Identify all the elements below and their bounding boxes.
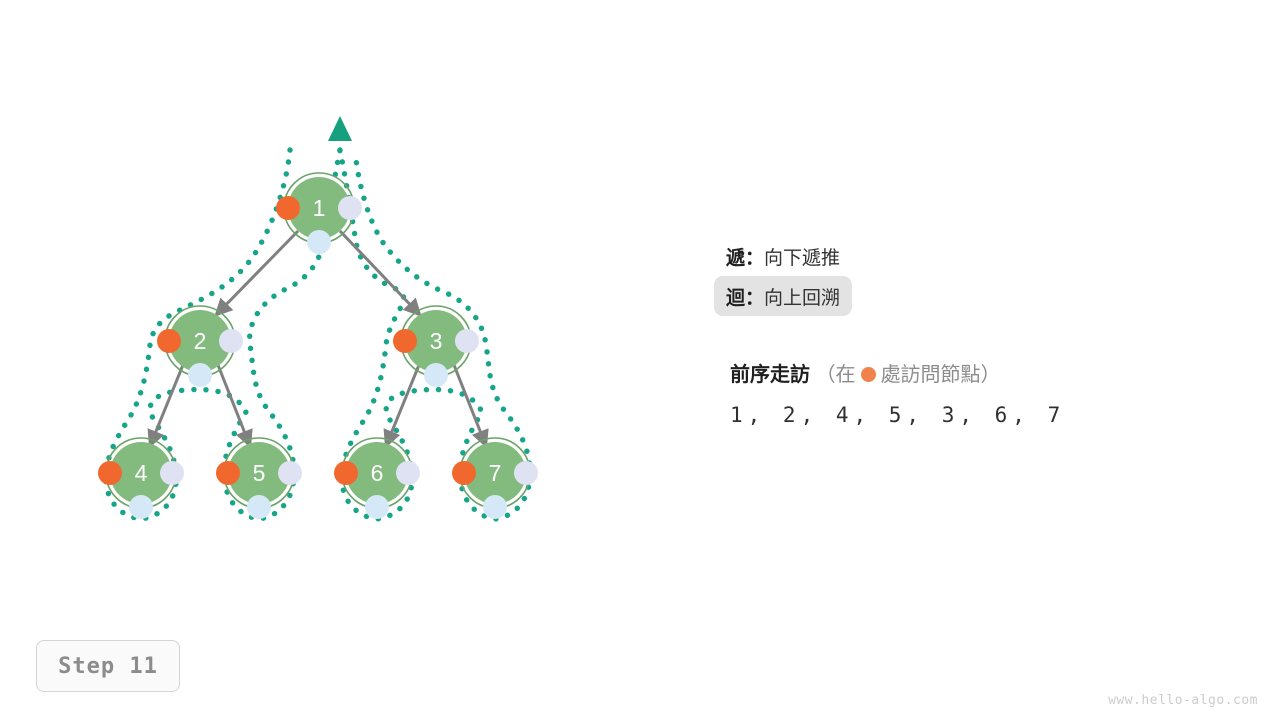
- node-label: 7: [489, 460, 502, 486]
- bottom-slot-dot: [424, 363, 448, 387]
- bottom-slot-dot: [188, 363, 212, 387]
- right-slot-dot: [338, 196, 362, 220]
- legend-row-recurse: 遞： 向下遞推: [726, 236, 1246, 276]
- visit-dot-icon: [861, 367, 876, 382]
- right-slot-dot: [514, 461, 538, 485]
- bottom-slot-dot: [247, 495, 271, 519]
- backtrack-marker-icon: [328, 116, 352, 141]
- visit-dot: [452, 461, 476, 485]
- edge-1-3: [340, 231, 420, 315]
- edge-2-4: [150, 365, 183, 446]
- node-label: 3: [430, 328, 443, 354]
- visit-dot: [216, 461, 240, 485]
- watermark: www.hello-algo.com: [1108, 693, 1258, 708]
- node-label: 4: [135, 460, 148, 486]
- tree-nodes: 1 2 3 4: [98, 173, 538, 519]
- visit-dot: [393, 329, 417, 353]
- tree-node-3[interactable]: 3: [393, 306, 479, 387]
- visit-dot: [157, 329, 181, 353]
- bottom-slot-dot: [129, 495, 153, 519]
- bottom-slot-dot: [483, 495, 507, 519]
- node-label: 5: [253, 460, 266, 486]
- edge-3-7: [454, 365, 486, 446]
- legend-lead-backtrack: 迴：: [726, 283, 764, 310]
- right-slot-dot: [219, 329, 243, 353]
- legend: 遞： 向下遞推 迴： 向上回溯: [726, 236, 1246, 316]
- node-label: 2: [194, 328, 207, 354]
- visit-dot: [276, 196, 300, 220]
- traversal-order-note-post: 處訪問節點）: [881, 364, 1001, 386]
- traversal-order-note-pre: （在: [816, 364, 856, 386]
- step-badge: Step 11: [36, 640, 180, 692]
- node-label: 1: [313, 195, 326, 221]
- right-slot-dot: [396, 461, 420, 485]
- right-slot-dot: [160, 461, 184, 485]
- bottom-slot-dot: [307, 230, 331, 254]
- traversal-order-title: 前序走訪 （在處訪問節點）: [730, 360, 1250, 390]
- visit-dot: [98, 461, 122, 485]
- legend-body-recurse: 向下遞推: [764, 243, 840, 270]
- edge-3-6: [386, 365, 419, 446]
- visit-dot: [334, 461, 358, 485]
- traversal-order: 前序走訪 （在處訪問節點） 1, 2, 4, 5, 3, 6, 7: [730, 360, 1250, 427]
- right-slot-dot: [455, 329, 479, 353]
- node-label: 6: [371, 460, 384, 486]
- edge-1-2: [216, 231, 298, 315]
- traversal-order-name: 前序走訪: [730, 364, 810, 386]
- legend-body-backtrack: 向上回溯: [764, 283, 840, 310]
- bottom-slot-dot: [365, 495, 389, 519]
- legend-row-backtrack: 迴： 向上回溯: [714, 276, 852, 316]
- right-slot-dot: [278, 461, 302, 485]
- traversal-order-sequence: 1, 2, 4, 5, 3, 6, 7: [730, 403, 1250, 427]
- legend-lead-recurse: 遞：: [726, 243, 764, 270]
